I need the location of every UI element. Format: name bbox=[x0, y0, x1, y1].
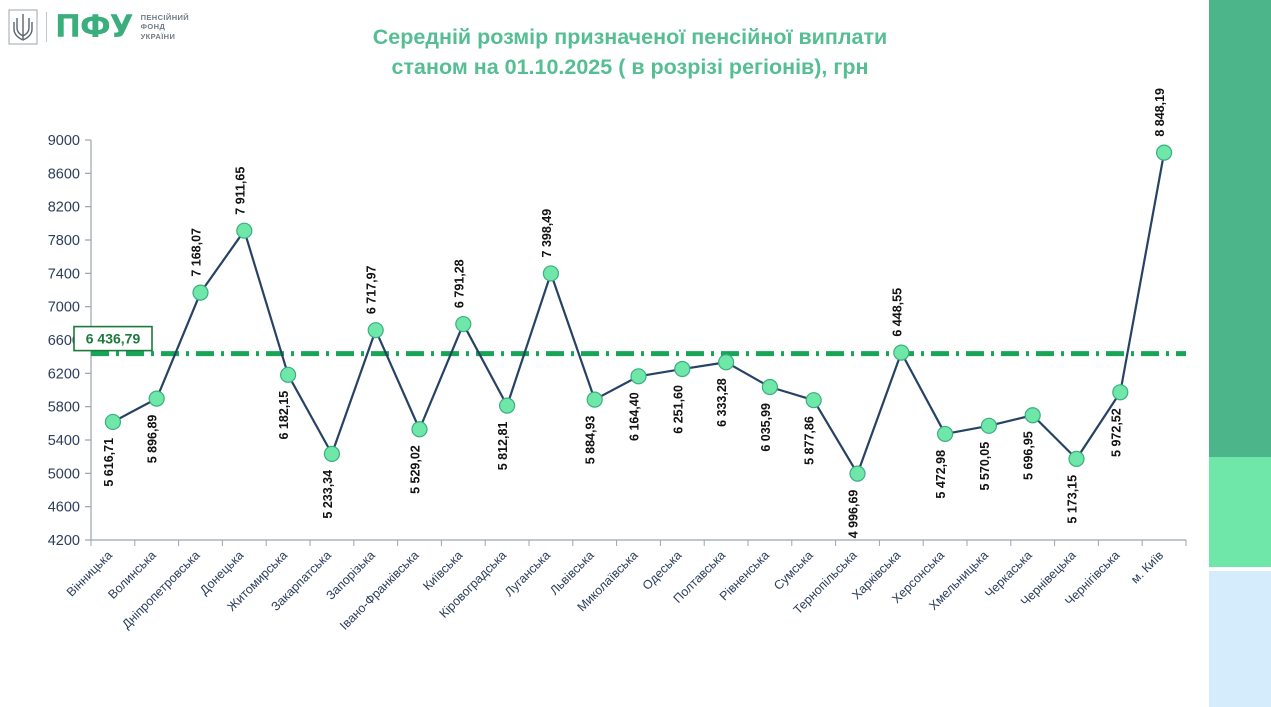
average-line-group: 6 436,79 bbox=[74, 327, 1186, 354]
data-point-marker bbox=[1025, 408, 1040, 423]
data-point-marker bbox=[500, 398, 515, 413]
data-point-value-label: 6 251,60 bbox=[671, 385, 685, 434]
data-point-value-label: 5 173,15 bbox=[1066, 475, 1080, 524]
data-point-marker bbox=[806, 393, 821, 408]
data-point-marker bbox=[105, 414, 120, 429]
data-point-marker bbox=[981, 418, 996, 433]
data-point-value-label: 5 812,81 bbox=[496, 422, 510, 471]
data-value-labels: 5 616,715 896,897 168,077 911,656 182,15… bbox=[102, 88, 1167, 538]
y-axis-tick-label: 9000 bbox=[48, 133, 80, 149]
data-point-value-label: 5 570,05 bbox=[978, 442, 992, 491]
data-point-value-label: 6 035,99 bbox=[759, 403, 773, 452]
y-axis-tick-label: 5800 bbox=[48, 400, 80, 416]
y-axis-tick-label: 7400 bbox=[48, 266, 80, 282]
data-point-marker bbox=[149, 391, 164, 406]
data-point-marker bbox=[1113, 385, 1128, 400]
x-axis-category-label: Івано-Франківська bbox=[337, 548, 422, 633]
data-point-marker bbox=[587, 392, 602, 407]
data-point-marker bbox=[456, 317, 471, 332]
data-point-value-label: 6 791,28 bbox=[452, 259, 466, 308]
chart-svg: 4200460050005400580062006600700074007800… bbox=[0, 0, 1271, 707]
data-point-value-label: 7 398,49 bbox=[540, 209, 554, 258]
x-axis-category-label: Дніпропетровська bbox=[119, 548, 202, 631]
data-point-marker bbox=[368, 323, 383, 338]
y-axis-tick-label: 5400 bbox=[48, 433, 80, 449]
data-point-value-label: 6 448,55 bbox=[890, 288, 904, 337]
data-point-value-label: 6 333,28 bbox=[715, 378, 729, 427]
data-point-value-label: 5 696,95 bbox=[1022, 431, 1036, 480]
data-point-marker bbox=[719, 355, 734, 370]
data-point-marker bbox=[894, 345, 909, 360]
x-axis-category-label: Сумська bbox=[771, 548, 816, 593]
data-point-value-label: 6 717,97 bbox=[365, 265, 379, 314]
y-axis-tick-label: 5000 bbox=[48, 466, 80, 482]
data-point-marker bbox=[762, 380, 777, 395]
data-point-marker bbox=[281, 367, 296, 382]
data-point-value-label: 6 164,40 bbox=[628, 392, 642, 441]
data-point-marker bbox=[938, 426, 953, 441]
data-point-marker bbox=[193, 285, 208, 300]
y-axis-tick-label: 4200 bbox=[48, 533, 80, 549]
data-point-marker bbox=[675, 362, 690, 377]
data-point-value-label: 7 911,65 bbox=[233, 167, 247, 215]
data-point-marker bbox=[1157, 145, 1172, 160]
average-value-label: 6 436,79 bbox=[86, 331, 141, 347]
x-axis-category-label: Київська bbox=[420, 548, 465, 593]
data-point-marker bbox=[1069, 451, 1084, 466]
data-point-value-label: 5 884,93 bbox=[584, 416, 598, 465]
y-axis-tick-label: 8200 bbox=[48, 200, 80, 216]
data-point-value-label: 5 529,02 bbox=[409, 445, 423, 494]
data-point-marker bbox=[631, 369, 646, 384]
category-labels: ВінницькаВолинськаДніпропетровськаДонець… bbox=[64, 548, 1167, 633]
data-point-marker bbox=[324, 446, 339, 461]
data-point-value-label: 7 168,07 bbox=[190, 228, 204, 277]
data-point-value-label: 5 877,86 bbox=[803, 416, 817, 465]
data-point-value-label: 5 472,98 bbox=[934, 450, 948, 499]
x-axis-category-label: Луганська bbox=[502, 548, 553, 599]
data-point-marker bbox=[412, 422, 427, 437]
y-axis-tick-label: 7000 bbox=[48, 300, 80, 316]
x-axis bbox=[91, 540, 1186, 546]
y-axis-tick-label: 6200 bbox=[48, 366, 80, 382]
y-axis-tick-label: 7800 bbox=[48, 233, 80, 249]
data-point-marker bbox=[850, 466, 865, 481]
data-point-value-label: 5 972,52 bbox=[1109, 408, 1123, 457]
y-axis-tick-label: 8600 bbox=[48, 166, 80, 182]
data-point-value-label: 5 233,34 bbox=[321, 470, 335, 519]
data-point-value-label: 5 616,71 bbox=[102, 438, 116, 487]
line-chart: 4200460050005400580062006600700074007800… bbox=[0, 0, 1271, 707]
data-point-marker bbox=[237, 223, 252, 238]
data-point-value-label: 4 996,69 bbox=[847, 490, 861, 539]
data-point-marker bbox=[543, 266, 558, 281]
x-axis-category-label: Одеська bbox=[640, 548, 685, 593]
data-point-value-label: 8 848,19 bbox=[1153, 88, 1167, 137]
data-point-value-label: 5 896,89 bbox=[146, 415, 160, 464]
y-axis-tick-label: 4600 bbox=[48, 500, 80, 516]
x-axis-category-label: м. Київ bbox=[1128, 548, 1166, 586]
data-point-value-label: 6 182,15 bbox=[277, 391, 291, 440]
